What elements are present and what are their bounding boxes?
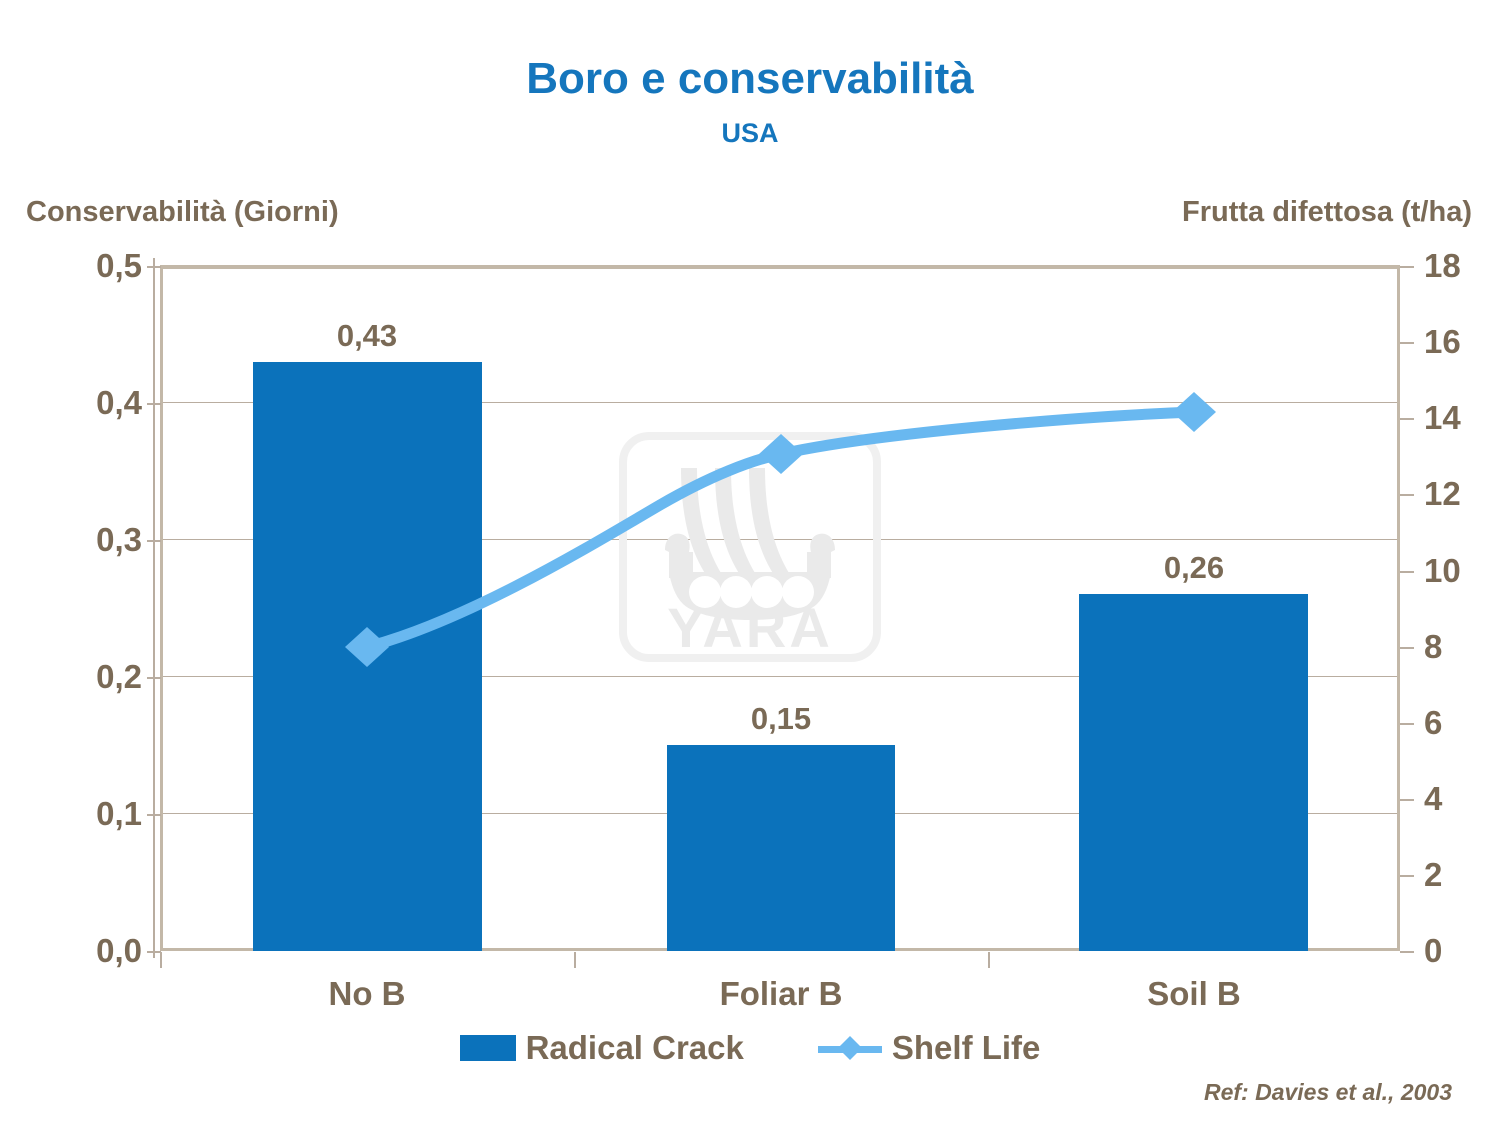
right-tick-label: 0 bbox=[1424, 932, 1442, 970]
chart-container: Boro e conservabilità USA Conservabilità… bbox=[0, 0, 1500, 1125]
right-tick-label: 18 bbox=[1424, 247, 1461, 285]
left-axis-ticks: 0,0 0,1 0,2 0,3 0,4 0,5 bbox=[30, 0, 142, 1125]
category-label-soil-b: Soil B bbox=[1147, 975, 1241, 1013]
chart-legend: Radical Crack Shelf Life bbox=[0, 1029, 1500, 1067]
left-axis-line bbox=[153, 258, 155, 958]
legend-label: Radical Crack bbox=[526, 1029, 744, 1067]
legend-label: Shelf Life bbox=[892, 1029, 1041, 1067]
legend-diamond-marker bbox=[838, 1036, 862, 1060]
right-tick-mark bbox=[1400, 799, 1414, 801]
bar-swatch-icon bbox=[460, 1035, 516, 1061]
right-tick-mark bbox=[1400, 951, 1414, 953]
reference-note: Ref: Davies et al., 2003 bbox=[1204, 1079, 1452, 1106]
right-tick-mark bbox=[1400, 266, 1414, 268]
right-tick-mark bbox=[1400, 418, 1414, 420]
right-tick-mark bbox=[1400, 571, 1414, 573]
left-tick-label: 0,4 bbox=[96, 384, 142, 422]
right-tick-mark bbox=[1400, 494, 1414, 496]
right-tick-label: 12 bbox=[1424, 475, 1461, 513]
legend-item-shelf-life[interactable]: Shelf Life bbox=[818, 1029, 1041, 1067]
right-tick-mark bbox=[1400, 723, 1414, 725]
right-axis-ticks: 0 2 4 6 8 10 12 14 16 18 bbox=[1424, 0, 1494, 1125]
x-axis-tick bbox=[574, 952, 576, 968]
bar-no-b[interactable] bbox=[253, 362, 482, 951]
left-tick-label: 0,2 bbox=[96, 658, 142, 696]
x-axis-tick bbox=[160, 952, 162, 968]
bar-value-label: 0,15 bbox=[751, 701, 811, 737]
left-tick-label: 0,5 bbox=[96, 247, 142, 285]
right-tick-mark bbox=[1400, 647, 1414, 649]
right-tick-mark bbox=[1400, 875, 1414, 877]
category-label-foliar-b: Foliar B bbox=[720, 975, 843, 1013]
right-tick-label: 10 bbox=[1424, 552, 1461, 590]
bar-soil-b[interactable] bbox=[1079, 594, 1308, 951]
right-tick-mark bbox=[1400, 342, 1414, 344]
line-diamond-swatch-icon bbox=[818, 1035, 882, 1061]
right-tick-label: 2 bbox=[1424, 856, 1442, 894]
bar-value-label: 0,43 bbox=[337, 318, 397, 354]
bar-value-label: 0,26 bbox=[1164, 550, 1224, 586]
x-axis-tick bbox=[988, 952, 990, 968]
left-tick-label: 0,1 bbox=[96, 795, 142, 833]
right-tick-label: 4 bbox=[1424, 780, 1442, 818]
left-tick-label: 0,0 bbox=[96, 932, 142, 970]
right-tick-label: 14 bbox=[1424, 399, 1461, 437]
chart-subtitle: USA bbox=[0, 118, 1500, 149]
right-tick-label: 8 bbox=[1424, 628, 1442, 666]
category-label-no-b: No B bbox=[329, 975, 406, 1013]
bar-foliar-b[interactable] bbox=[667, 745, 895, 951]
legend-item-radical-crack[interactable]: Radical Crack bbox=[460, 1029, 744, 1067]
right-tick-label: 16 bbox=[1424, 323, 1461, 361]
chart-title: Boro e conservabilità bbox=[0, 54, 1500, 104]
left-tick-label: 0,3 bbox=[96, 521, 142, 559]
right-tick-label: 6 bbox=[1424, 704, 1442, 742]
